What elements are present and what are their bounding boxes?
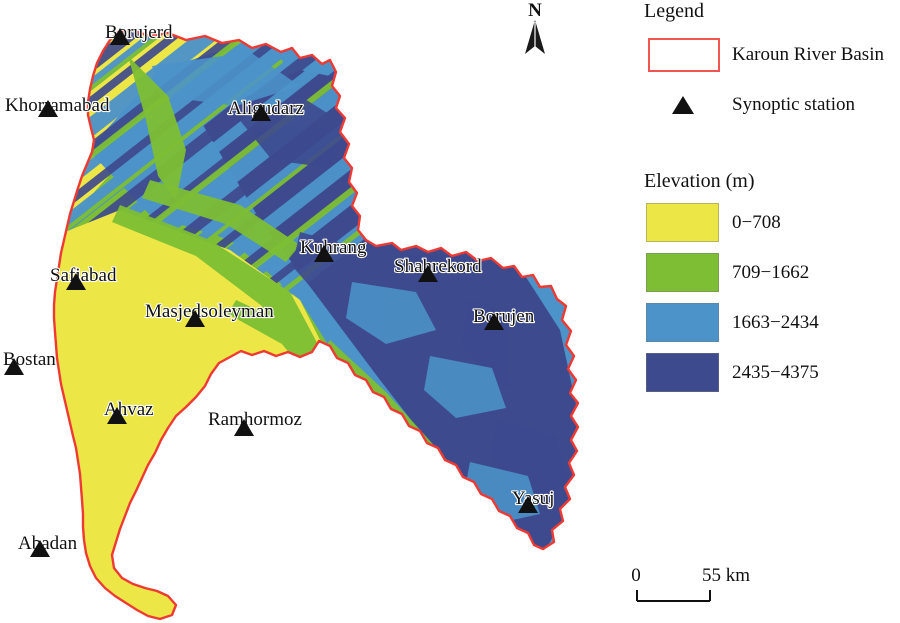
legend-title: Legend xyxy=(644,0,704,23)
legend-label-station: Synoptic station xyxy=(732,94,855,116)
north-arrow: N xyxy=(525,0,545,54)
station-abadan[interactable]: Abadan xyxy=(18,533,78,557)
station-label: Safiabad xyxy=(50,265,117,286)
legend-swatch-station xyxy=(672,96,694,114)
elevation-swatch-3 xyxy=(646,353,719,392)
elevation-label-1: 709−1662 xyxy=(732,262,809,284)
elevation-legend-title: Elevation (m) xyxy=(644,170,755,193)
elevation-label-3: 2435−4375 xyxy=(732,362,819,384)
station-bostan[interactable]: Bostan xyxy=(3,349,56,375)
station-label: Kuhrang xyxy=(300,237,367,258)
station-label: Ramhormoz xyxy=(208,409,302,430)
elevation-label-2: 1663−2434 xyxy=(732,312,819,334)
station-label: Khorramabad xyxy=(5,95,110,116)
station-borujerd[interactable]: Borujerd xyxy=(105,22,173,45)
station-khorramabad[interactable]: Khorramabad xyxy=(5,95,110,117)
elevation-swatch-2 xyxy=(646,303,719,342)
legend-label-basin: Karoun River Basin xyxy=(732,44,884,66)
station-ramhormoz[interactable]: Ramhormoz xyxy=(208,409,302,436)
legend-swatch-basin xyxy=(648,38,720,72)
station-label: Shahrekord xyxy=(394,256,482,277)
basin-map xyxy=(0,0,652,623)
station-label: Abadan xyxy=(18,533,78,554)
elevation-swatch-1 xyxy=(646,253,719,292)
legend-panel: Legend Karoun River Basin Synoptic stati… xyxy=(640,0,900,623)
station-label: Borujen xyxy=(473,306,535,327)
elevation-label-0: 0−708 xyxy=(732,212,781,234)
station-label: Masjedsoleyman xyxy=(145,301,274,322)
map-figure: BorujerdKhorramabadAligudarzKuhrangShahr… xyxy=(0,0,900,623)
station-borujen[interactable]: Borujen xyxy=(473,306,535,330)
north-arrow-label: N xyxy=(528,0,542,21)
elevation-swatch-0 xyxy=(646,203,719,242)
station-aligudarz[interactable]: Aligudarz xyxy=(228,98,304,121)
